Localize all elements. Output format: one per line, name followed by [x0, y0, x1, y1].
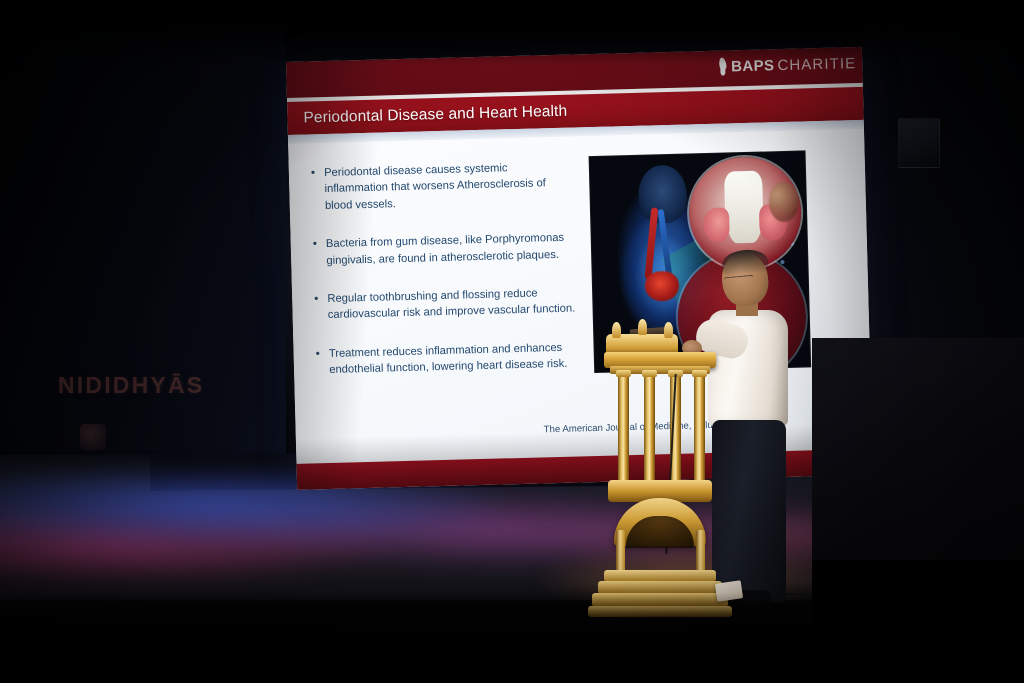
- list-item: • Periodontal disease causes systemic in…: [311, 159, 574, 215]
- bullet-text: Bacteria from gum disease, like Porphyro…: [326, 230, 576, 269]
- bullet-marker-icon: •: [313, 236, 318, 269]
- slide-title: Periodontal Disease and Heart Health: [287, 102, 567, 127]
- lectern-base-tier: [592, 593, 728, 607]
- left-wall: [0, 0, 286, 470]
- gum-left: [703, 207, 730, 242]
- bullet-text: Periodontal disease causes systemic infl…: [324, 159, 574, 215]
- list-item: • Regular toothbrushing and flossing red…: [314, 285, 577, 325]
- baps-charities-logo: BAPS CHARITIE: [717, 54, 857, 76]
- bullet-list: • Periodontal disease causes systemic in…: [311, 159, 579, 401]
- brand-name-bold: BAPS: [731, 57, 775, 75]
- banner-lower-dark: [812, 560, 1024, 683]
- banner-logo-icon: [80, 424, 106, 450]
- wall-speaker-icon: [898, 118, 940, 168]
- bullet-marker-icon: •: [314, 291, 319, 324]
- lectern-dome: [638, 319, 647, 335]
- ornate-golden-lectern: [600, 330, 720, 620]
- lectern-pillar: [694, 374, 705, 484]
- lectern-shadow: [584, 616, 740, 626]
- venue-banner-text: NIDIDHYĀS: [58, 372, 204, 399]
- bullet-text: Regular toothbrushing and flossing reduc…: [327, 285, 577, 324]
- flame-icon: [717, 57, 728, 75]
- lectern-pillar: [644, 374, 655, 484]
- presenter-trousers: [712, 420, 786, 602]
- plaque-bacteria: [768, 182, 799, 223]
- list-item: • Bacteria from gum disease, like Porphy…: [313, 230, 576, 270]
- lectern-base-column: [696, 530, 705, 574]
- bullet-marker-icon: •: [315, 346, 320, 379]
- brand-name-light: CHARITIE: [777, 55, 856, 74]
- paper-sheet: [715, 580, 743, 601]
- bullet-text: Treatment reduces inflammation and enhan…: [329, 339, 579, 378]
- presentation-photo: BAPS CHARITIE Periodontal Disease and He…: [0, 0, 1024, 683]
- tooth-icon: [724, 171, 764, 244]
- lectern-dome: [612, 322, 621, 338]
- list-item: • Treatment reduces inflammation and enh…: [315, 339, 578, 379]
- lectern-pillar: [618, 374, 629, 484]
- bullet-marker-icon: •: [311, 165, 316, 214]
- lectern-base-column: [616, 530, 625, 574]
- lectern-dome: [664, 322, 673, 338]
